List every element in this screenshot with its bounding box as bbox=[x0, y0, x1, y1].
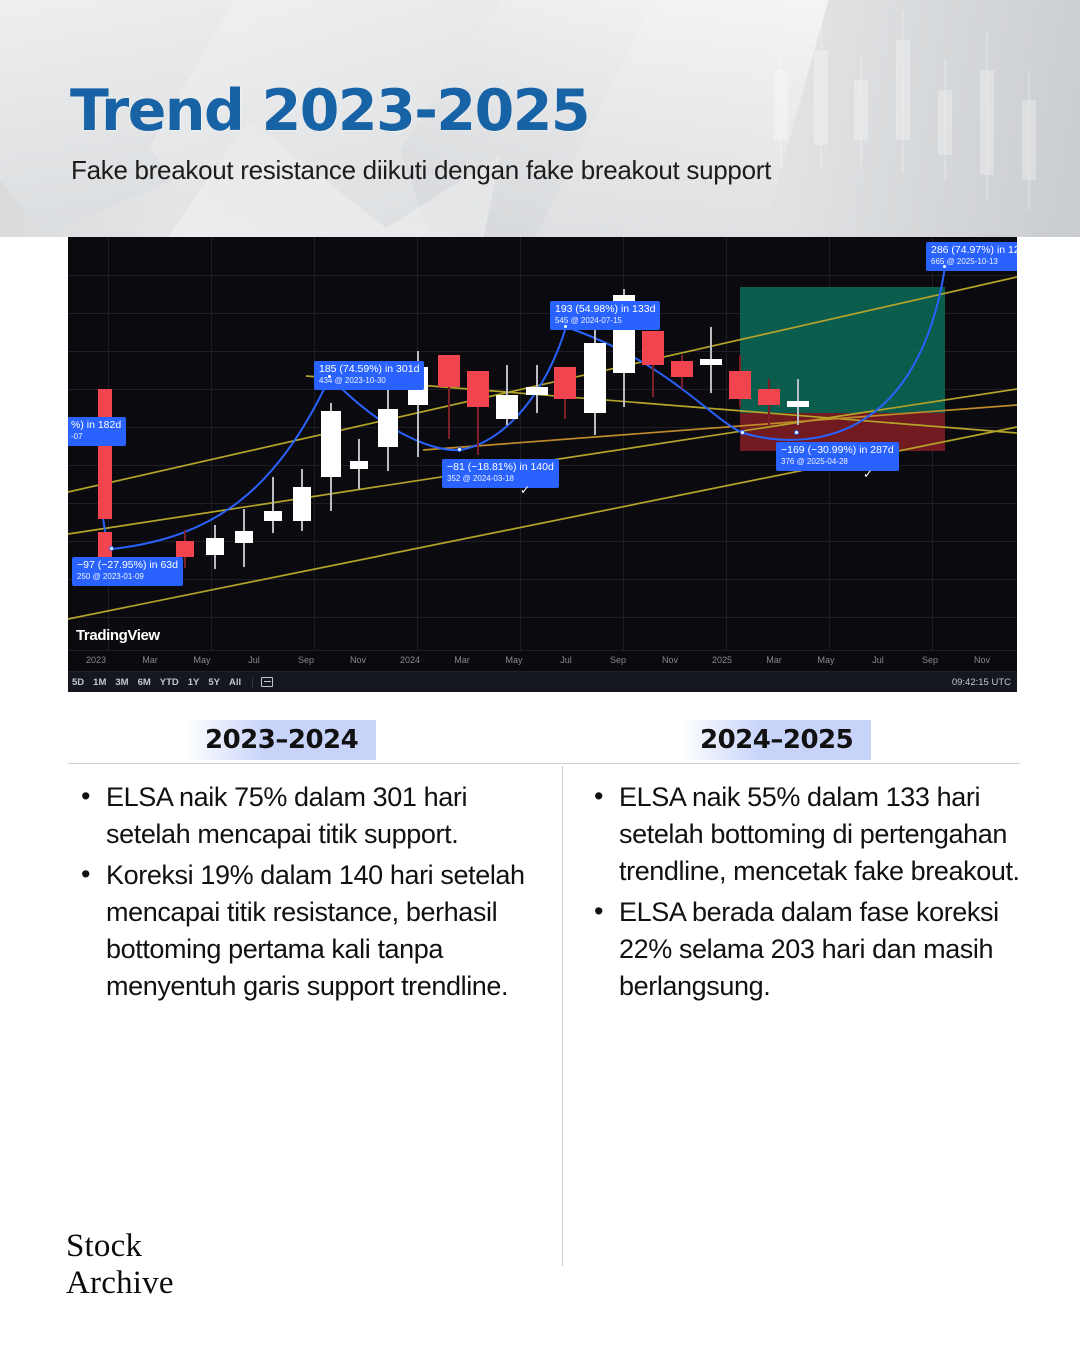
candlestick bbox=[642, 331, 664, 397]
brand-logo: Stock Archive bbox=[66, 1228, 174, 1302]
swing-point-dot bbox=[109, 546, 114, 551]
axis-tick: Mar bbox=[766, 655, 782, 665]
list-item: ELSA berada dalam fase koreksi 22% selam… bbox=[585, 894, 1020, 1005]
axis-tick: May bbox=[193, 655, 210, 665]
candlestick bbox=[350, 439, 368, 489]
chart-clock: 09:42:15 UTC bbox=[952, 677, 1017, 688]
annotation-main: 193 (54.98%) in 133d bbox=[555, 303, 655, 315]
page-title: Trend 2023-2025 bbox=[70, 78, 589, 144]
annotation-sub: -07 bbox=[71, 433, 121, 442]
candlestick bbox=[378, 387, 398, 471]
axis-tick: Sep bbox=[298, 655, 314, 665]
candlestick bbox=[496, 365, 518, 425]
swing-point-dot bbox=[563, 324, 568, 329]
brand-line-2: Archive bbox=[66, 1265, 174, 1302]
timeframe-6m[interactable]: 6M bbox=[138, 677, 151, 688]
annotation-main: %) in 182d bbox=[71, 419, 121, 431]
tradingview-chart[interactable]: %) in 182d -07 −97 (−27.95%) in 63d 250 … bbox=[68, 237, 1017, 692]
annotation-sub: 545 @ 2024-07-15 bbox=[555, 317, 655, 326]
annotation-left-edge-partial: %) in 182d -07 bbox=[68, 417, 126, 446]
axis-tick: Sep bbox=[922, 655, 938, 665]
timeframe-3m[interactable]: 3M bbox=[115, 677, 128, 688]
timeframe-5d[interactable]: 5D bbox=[72, 677, 84, 688]
timeframe-1y[interactable]: 1Y bbox=[188, 677, 200, 688]
checkmark-icon: ✓ bbox=[863, 467, 873, 481]
chart-x-axis: 2023 Mar May Jul Sep Nov 2024 Mar May Ju… bbox=[68, 650, 1017, 671]
axis-tick: 2024 bbox=[400, 655, 420, 665]
list-item: ELSA naik 75% dalam 301 hari setelah men… bbox=[72, 779, 552, 853]
tradingview-logo: TradingView bbox=[76, 627, 160, 644]
axis-tick: May bbox=[505, 655, 522, 665]
swing-point-dot bbox=[740, 430, 745, 435]
list-item: ELSA naik 55% dalam 133 hari setelah bot… bbox=[585, 779, 1020, 890]
axis-tick: May bbox=[817, 655, 834, 665]
timeframe-1m[interactable]: 1M bbox=[93, 677, 106, 688]
annotation-main: 185 (74.59%) in 301d bbox=[319, 363, 419, 375]
candlestick bbox=[787, 379, 809, 425]
axis-tick: Jul bbox=[872, 655, 884, 665]
bullet-list-right: ELSA naik 55% dalam 133 hari setelah bot… bbox=[585, 779, 1020, 1009]
candlestick bbox=[467, 371, 489, 455]
candlestick bbox=[264, 477, 282, 533]
annotation-main: −81 (−18.81%) in 140d bbox=[447, 461, 554, 473]
annotation-sub: 352 @ 2024-03-18 bbox=[447, 475, 554, 484]
swing-point-dot bbox=[457, 447, 462, 452]
column-heading-right: 2024–2025 bbox=[680, 720, 871, 760]
axis-tick: Jul bbox=[248, 655, 260, 665]
axis-tick: Mar bbox=[454, 655, 470, 665]
chart-plot-area[interactable]: %) in 182d -07 −97 (−27.95%) in 63d 250 … bbox=[68, 237, 1017, 650]
annotation-sub: 250 @ 2023-01-09 bbox=[77, 573, 178, 582]
candlestick bbox=[235, 509, 253, 567]
candlestick bbox=[554, 367, 576, 419]
swing-point-dot bbox=[327, 374, 332, 379]
swing-point-dot bbox=[794, 430, 799, 435]
annotation-main: 286 (74.97%) in 125d bbox=[931, 244, 1017, 256]
annotation-correction-2024: −81 (−18.81%) in 140d 352 @ 2024-03-18 bbox=[442, 459, 559, 488]
horizontal-divider bbox=[68, 763, 1020, 764]
candlestick bbox=[526, 365, 548, 413]
axis-tick: 2025 bbox=[712, 655, 732, 665]
axis-tick: Jul bbox=[560, 655, 572, 665]
list-item: Koreksi 19% dalam 140 hari setelah menca… bbox=[72, 857, 552, 1005]
ghost-candlestick-decoration bbox=[750, 0, 1080, 237]
candlestick bbox=[729, 355, 751, 407]
axis-tick: Mar bbox=[142, 655, 158, 665]
axis-tick: Nov bbox=[974, 655, 990, 665]
toolbar-divider bbox=[252, 677, 253, 688]
layout-icon[interactable] bbox=[261, 677, 273, 687]
candlestick bbox=[293, 469, 311, 531]
page-subtitle: Fake breakout resistance diikuti dengan … bbox=[71, 155, 771, 186]
timeframe-5y[interactable]: 5Y bbox=[208, 677, 220, 688]
swing-point-dot bbox=[942, 264, 947, 269]
checkmark-icon: ✓ bbox=[520, 483, 530, 497]
annotation-correction-2025: −169 (−30.99%) in 287d 376 @ 2025-04-28 bbox=[776, 442, 899, 471]
candlestick bbox=[584, 325, 606, 435]
annotation-sub: 376 @ 2025-04-28 bbox=[781, 458, 894, 467]
candlestick bbox=[671, 355, 693, 389]
annotation-bottom-2023: −97 (−27.95%) in 63d 250 @ 2023-01-09 bbox=[72, 557, 183, 586]
axis-tick: 2023 bbox=[86, 655, 106, 665]
chart-toolbar[interactable]: 5D 1M 3M 6M YTD 1Y 5Y All 09:42:15 UTC bbox=[68, 671, 1017, 692]
timeframe-ytd[interactable]: YTD bbox=[160, 677, 179, 688]
candlestick bbox=[98, 389, 112, 519]
annotation-projection-target: 286 (74.97%) in 125d 665 @ 2025-10-13 bbox=[926, 242, 1017, 271]
candlestick bbox=[206, 525, 224, 569]
axis-tick: Nov bbox=[350, 655, 366, 665]
candlestick bbox=[758, 379, 780, 425]
bullet-list-left: ELSA naik 75% dalam 301 hari setelah men… bbox=[72, 779, 552, 1009]
axis-tick: Sep bbox=[610, 655, 626, 665]
axis-tick: Nov bbox=[662, 655, 678, 665]
brand-line-1: Stock bbox=[66, 1228, 174, 1265]
timeframe-all[interactable]: All bbox=[229, 677, 241, 688]
column-heading-left: 2023–2024 bbox=[185, 720, 376, 760]
header-banner: Trend 2023-2025 Fake breakout resistance… bbox=[0, 0, 1080, 237]
candlestick bbox=[438, 355, 460, 439]
annotation-main: −169 (−30.99%) in 287d bbox=[781, 444, 894, 456]
candlestick bbox=[321, 403, 341, 511]
annotation-sub: 434 @ 2023-10-30 bbox=[319, 377, 419, 386]
annotation-main: −97 (−27.95%) in 63d bbox=[77, 559, 178, 571]
vertical-divider bbox=[562, 766, 563, 1266]
candlestick bbox=[700, 327, 722, 393]
